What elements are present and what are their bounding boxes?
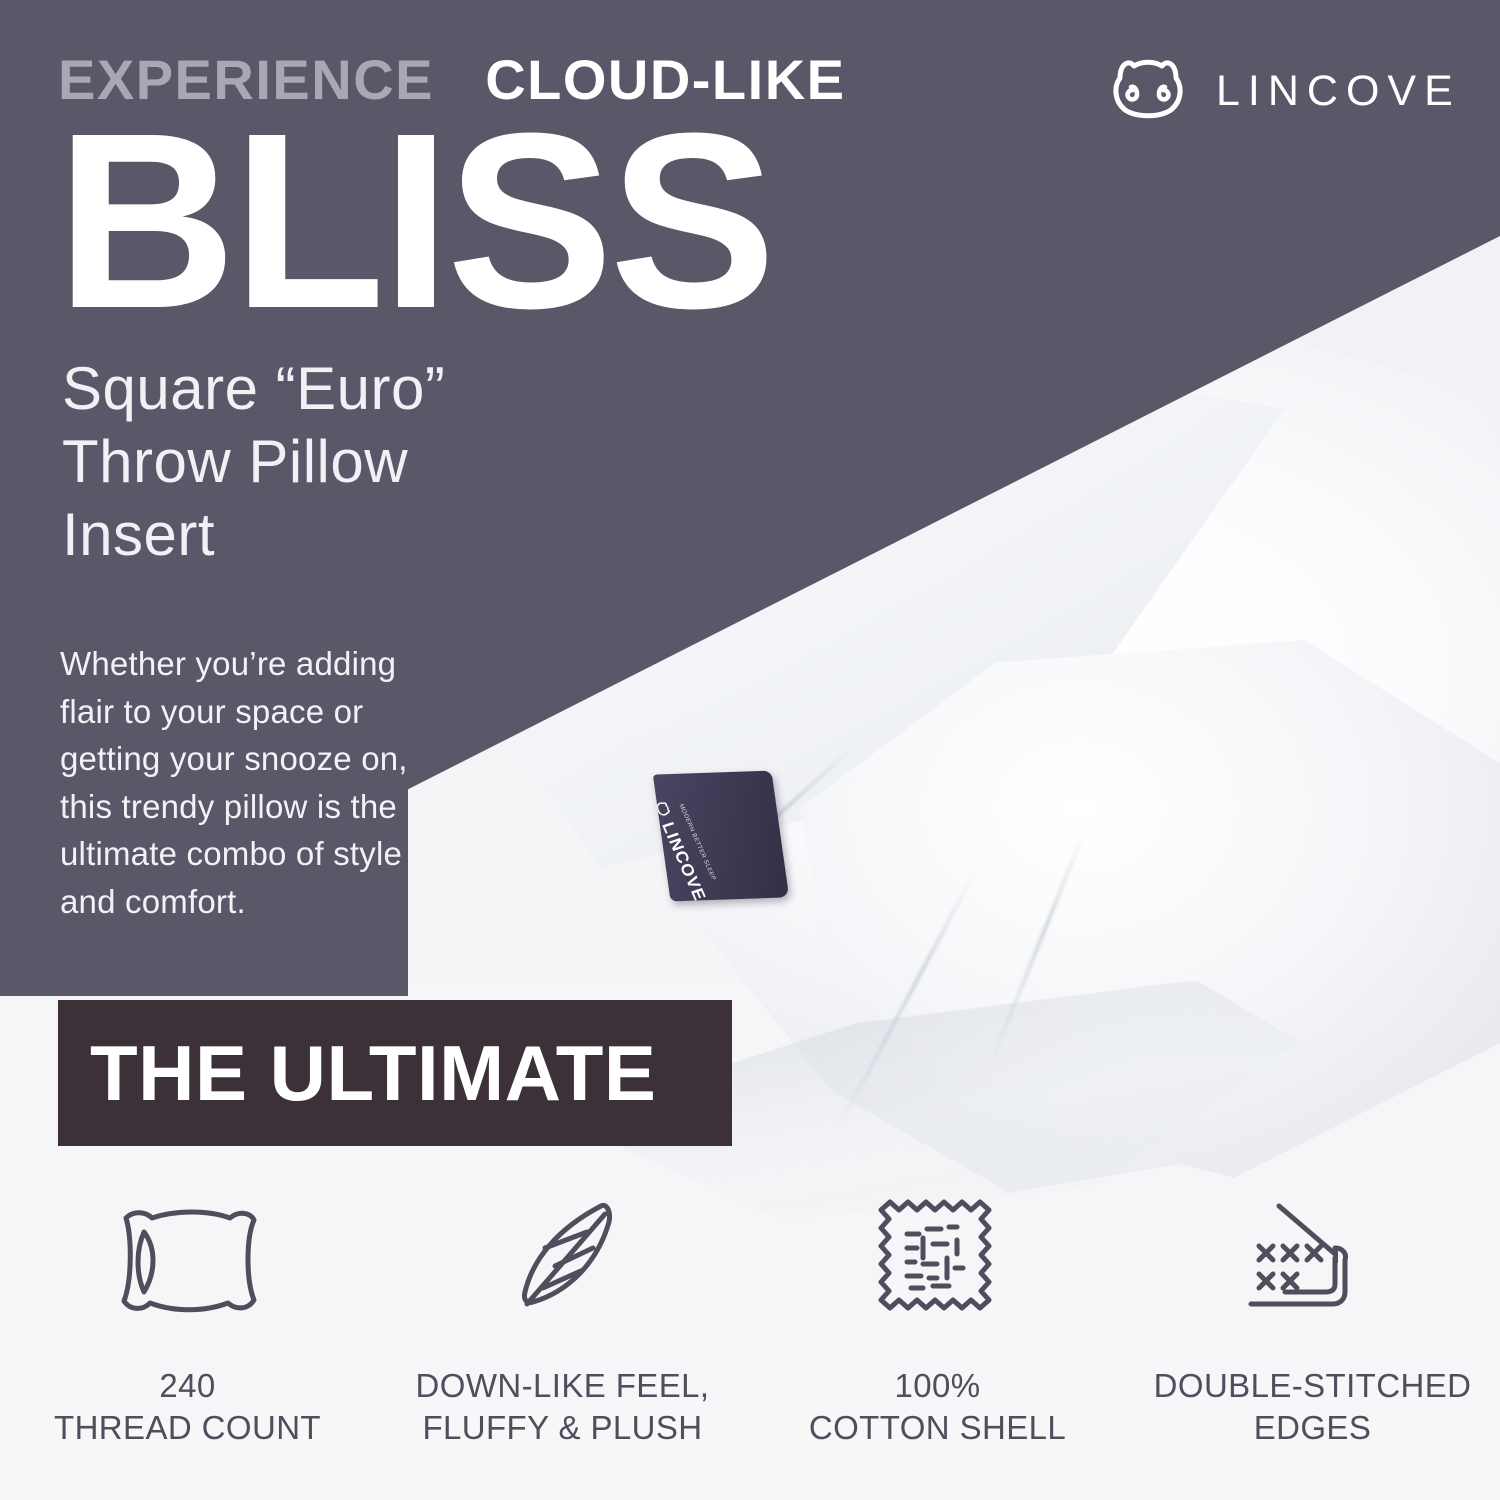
brand-logo[interactable]: LINCOVE bbox=[1100, 56, 1461, 127]
feature-item-cotton: 100% COTTON SHELL bbox=[750, 1195, 1125, 1449]
koala-head-icon bbox=[1100, 56, 1196, 127]
headline: BLISS bbox=[56, 96, 772, 346]
pillow-icon bbox=[104, 1195, 272, 1327]
feature-item-thread-count: 240 THREAD COUNT bbox=[0, 1195, 375, 1449]
feature-label: 240 THREAD COUNT bbox=[54, 1365, 321, 1449]
feature-item-double-stitched: DOUBLE-STITCHED EDGES bbox=[1125, 1195, 1500, 1449]
fabric-swatch-icon bbox=[871, 1195, 1005, 1327]
brand-name: LINCOVE bbox=[1216, 67, 1461, 116]
feature-label: DOWN-LIKE FEEL, FLUFFY & PLUSH bbox=[416, 1365, 710, 1449]
feature-item-down-like: DOWN-LIKE FEEL, FLUFFY & PLUSH bbox=[375, 1195, 750, 1449]
product-marketing-poster: LINCOVE EXPERIENCE CLOUD-LIKE BLISS Squa… bbox=[0, 0, 1500, 1500]
product-description: Whether you’re adding flair to your spac… bbox=[60, 640, 420, 925]
sewing-needle-stitch-icon bbox=[1239, 1195, 1387, 1327]
feature-row: 240 THREAD COUNT DOWN-LIKE FEEL, FLUFFY … bbox=[0, 1195, 1500, 1449]
pillow-care-tag: LINCOVE MODERN BETTER SLEEP bbox=[653, 771, 789, 902]
ultimate-banner: THE ULTIMATE bbox=[58, 1000, 732, 1146]
ultimate-banner-label: THE ULTIMATE bbox=[90, 1034, 656, 1112]
product-subtitle: Square “Euro” Throw Pillow Insert bbox=[62, 352, 532, 572]
feature-label: DOUBLE-STITCHED EDGES bbox=[1154, 1365, 1472, 1449]
feature-label: 100% COTTON SHELL bbox=[809, 1365, 1066, 1449]
feather-icon bbox=[493, 1195, 633, 1327]
